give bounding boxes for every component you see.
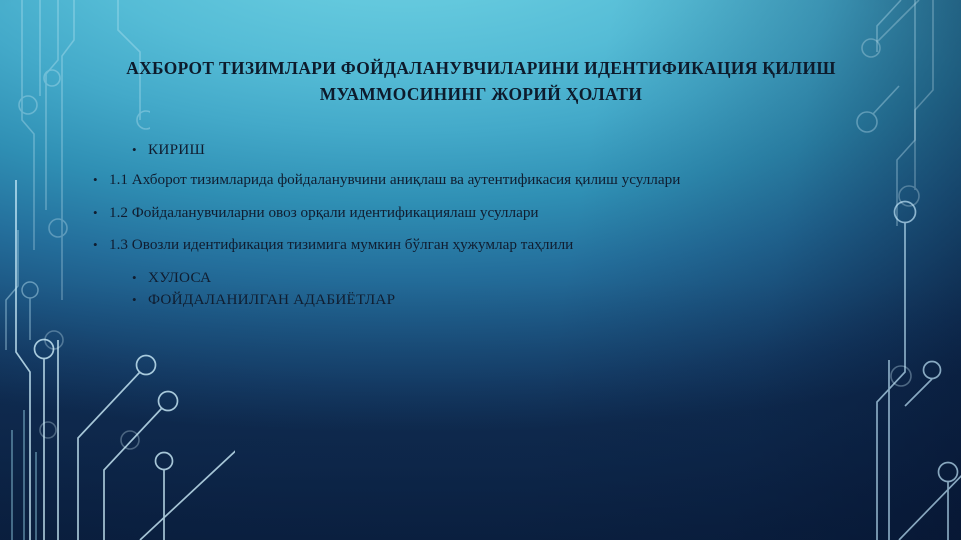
- slide-title-line-1: АХБОРОТ ТИЗИМЛАРИ ФОЙДАЛАНУВЧИЛАРИНИ ИДЕ…: [96, 55, 866, 81]
- slide-title-line-2: МУАММОСИНИНГ ЖОРИЙ ҲОЛАТИ: [96, 81, 866, 107]
- list-item-label: 1.1 Ахборот тизимларида фойдаланувчини а…: [109, 170, 680, 190]
- presentation-slide: АХБОРОТ ТИЗИМЛАРИ ФОЙДАЛАНУВЧИЛАРИНИ ИДЕ…: [0, 0, 961, 540]
- list-item: • 1.1 Ахборот тизимларида фойдаланувчини…: [0, 170, 961, 190]
- bullet-marker-icon: •: [93, 203, 109, 223]
- list-item-label: 1.2 Фойдаланувчиларни овоз орқали иденти…: [109, 203, 539, 223]
- slide-title: АХБОРОТ ТИЗИМЛАРИ ФОЙДАЛАНУВЧИЛАРИНИ ИДЕ…: [96, 55, 866, 107]
- bullet-marker-icon: •: [93, 170, 109, 190]
- list-item-label: ФОЙДАЛАНИЛГАН АДАБИЁТЛАР: [148, 290, 395, 310]
- bullet-marker-icon: •: [132, 268, 148, 288]
- bullet-marker-icon: •: [132, 290, 148, 310]
- list-item: • ХУЛОСА: [0, 268, 961, 288]
- list-item-label: ХУЛОСА: [148, 268, 211, 288]
- list-item: • КИРИШ: [0, 140, 961, 160]
- list-item-label: КИРИШ: [148, 140, 205, 160]
- list-item-label: 1.3 Овозли идентификация тизимига мумкин…: [109, 235, 573, 255]
- bullet-marker-icon: •: [132, 140, 148, 160]
- slide-bullet-list: • КИРИШ • 1.1 Ахборот тизимларида фойдал…: [0, 140, 961, 316]
- list-item: • 1.3 Овозли идентификация тизимига мумк…: [0, 235, 961, 255]
- list-item: • 1.2 Фойдаланувчиларни овоз орқали иден…: [0, 203, 961, 223]
- bullet-marker-icon: •: [93, 235, 109, 255]
- list-item: • ФОЙДАЛАНИЛГАН АДАБИЁТЛАР: [0, 290, 961, 310]
